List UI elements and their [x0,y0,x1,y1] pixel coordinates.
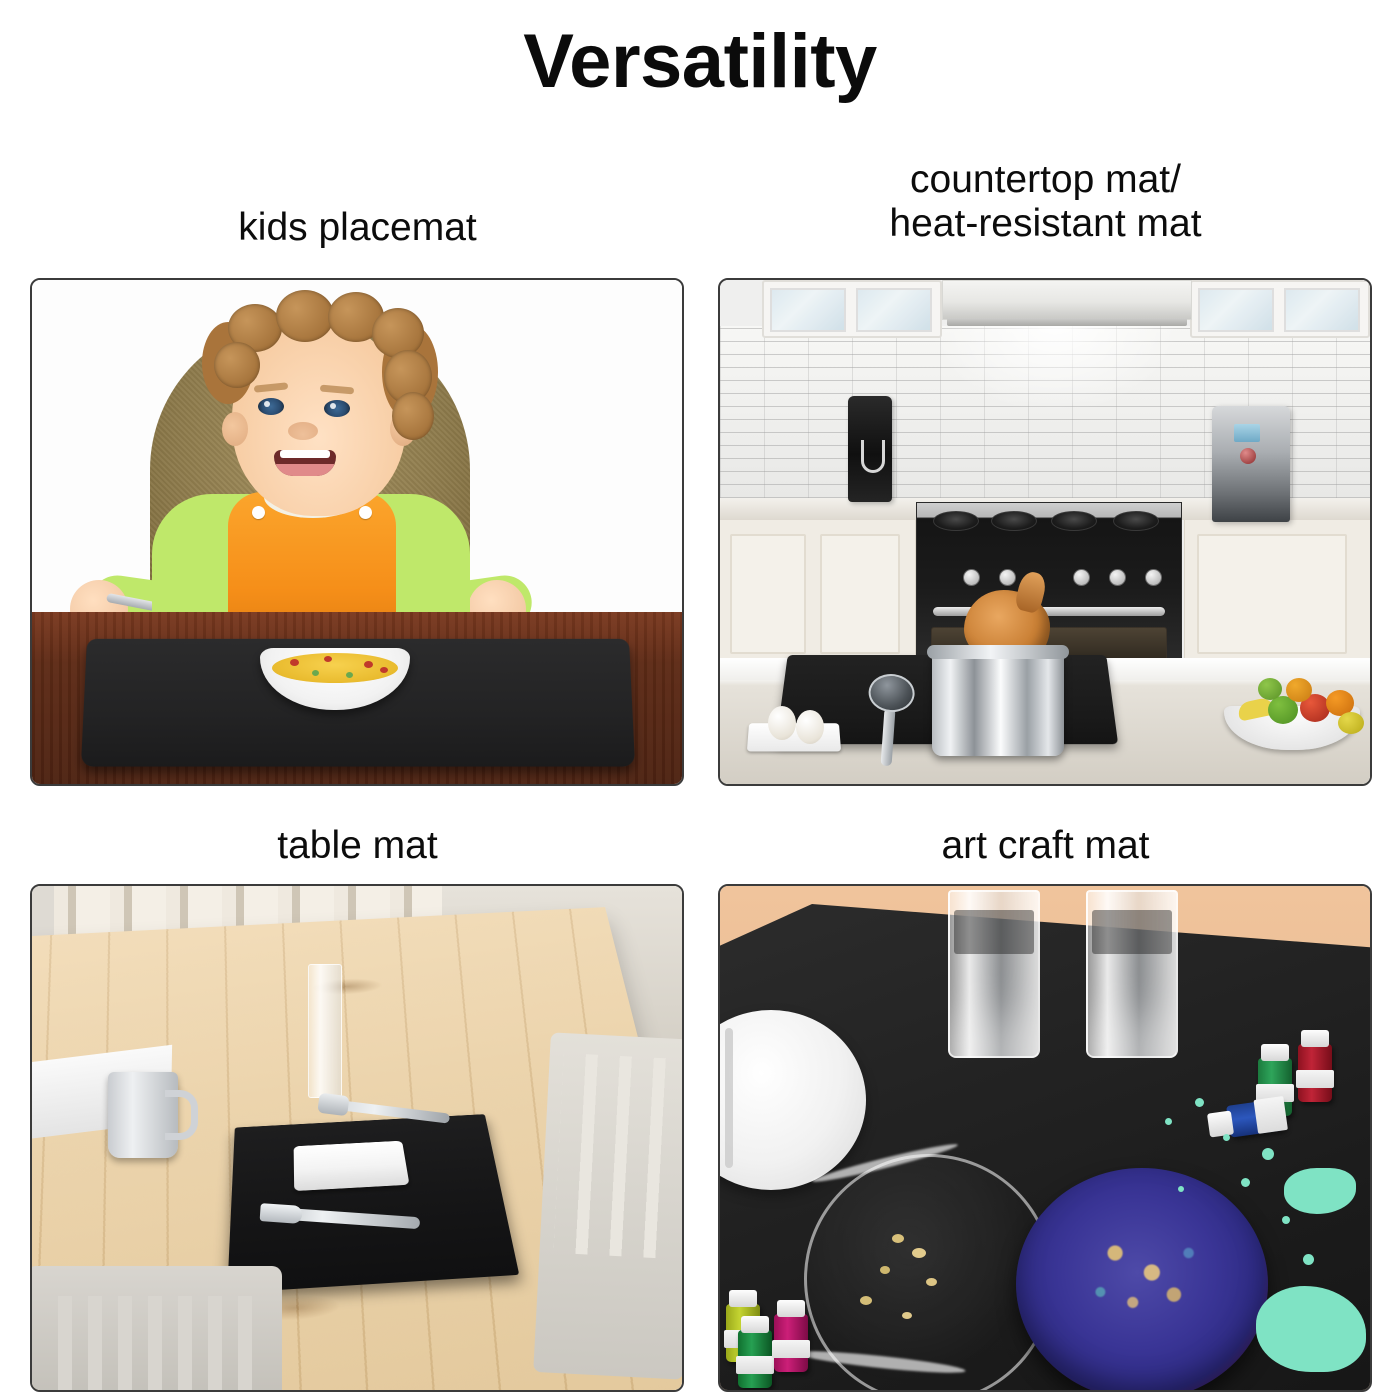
bottle-cap [741,1316,769,1333]
gold-flake [860,1296,872,1305]
gold-flake [912,1248,926,1258]
paint-splatter-dot [1195,1098,1204,1107]
upper-cabinet-right [1190,280,1370,338]
caption-countertop-mat: countertop mat/ heat-resistant mat [718,158,1373,245]
food-bit [346,672,353,678]
paint-bottle-red [1298,1044,1332,1102]
stove-burner [1051,511,1097,531]
paint-splatter-dot [1241,1178,1250,1187]
chair-front [30,1266,282,1392]
food-bit [324,656,332,662]
page-title: Versatility [0,22,1400,102]
gold-flake [880,1266,890,1274]
panel-art-craft-mat [718,884,1372,1392]
baby-eye-right [324,400,350,417]
base-cabinet-left [720,520,916,658]
bottle-cap [1261,1044,1289,1061]
bottle-cap [1207,1110,1234,1137]
lemon [1338,712,1364,734]
hair-curl [276,290,334,342]
bottle-label [1253,1096,1287,1134]
cabinet-glass-pane [1198,288,1274,332]
baby-mouth [274,450,336,476]
range-hood [942,280,1192,320]
gold-flake [926,1278,937,1286]
hair-curl [392,392,434,440]
cabinet-glass-pane [770,288,846,332]
oven-knob[interactable] [1145,569,1162,586]
stainless-pot [932,652,1064,756]
coffee-dial[interactable] [1240,448,1256,464]
orange-fruit [1286,678,1312,702]
hair-curl [372,308,424,358]
coffee-display [1234,424,1260,442]
bottle-cap [777,1300,805,1317]
food-bit [364,661,373,668]
caption-art-craft-mat: art craft mat [718,824,1373,868]
oven-knob[interactable] [1073,569,1090,586]
egg [796,710,824,744]
paint-splatter-dot [1165,1118,1172,1125]
baby-eye-left [258,398,284,415]
gold-flake [892,1234,904,1243]
cabinet-door [730,534,806,654]
base-cabinet-right [1184,520,1370,658]
paint-splatter-dot [1178,1186,1184,1192]
stove-burner [933,511,979,531]
paint-bottle-magenta [774,1314,808,1372]
food-bit [312,670,319,676]
food-bit [290,659,299,666]
hair-curl [214,342,260,388]
panel-kids-placemat [30,278,684,786]
bottle-cap [1301,1030,1329,1047]
ladle-handle [881,708,896,767]
infographic-page: Versatility kids placemat countertop mat… [0,0,1400,1400]
paint-splatter-dot [1282,1216,1290,1224]
panel-countertop-mat [718,278,1372,786]
resin-glass [948,890,1040,1058]
geode-coaster [1016,1168,1268,1392]
food-bit [380,667,388,673]
cabinet-glass-pane [856,288,932,332]
upper-cabinet-left [762,280,942,338]
coffee-machine [1212,406,1290,522]
paint-bottle-green [738,1330,772,1388]
scene-countertop-mat [720,280,1370,784]
oven-knob[interactable] [963,569,980,586]
mug [108,1072,178,1158]
stove-burner [991,511,1037,531]
cabinet-door [1197,534,1347,654]
paint-splatter-dot [1303,1254,1314,1265]
panel-table-mat [30,884,684,1392]
caption-table-mat: table mat [30,824,685,868]
bottle-label [1296,1070,1334,1088]
scene-art-craft-mat [720,886,1370,1390]
soda-maker [848,396,892,502]
cabinet-glass-pane [1284,288,1360,332]
caption-kids-placemat: kids placemat [30,206,685,250]
white-square-plate [294,1141,410,1191]
bottle-label [736,1356,774,1374]
baby-nose [288,422,318,440]
scene-table-mat [32,886,682,1390]
resin-glass [1086,890,1178,1058]
egg [768,706,796,740]
oven-knob[interactable] [1109,569,1126,586]
yellow-rice [272,653,398,683]
chair-right [533,1032,684,1379]
stove-burner [1113,511,1159,531]
green-apple [1258,678,1282,700]
paint-splatter-dot [1262,1148,1274,1160]
gold-flake [902,1312,912,1319]
bottle-cap [729,1290,757,1307]
scene-kids-placemat [32,280,682,784]
under-cabinet-light [930,324,1180,414]
paint-splatter-dot [1223,1134,1230,1141]
oven-knob[interactable] [999,569,1016,586]
cabinet-door [820,534,900,654]
bottle-label [772,1340,810,1358]
drinking-glass [308,964,342,1098]
